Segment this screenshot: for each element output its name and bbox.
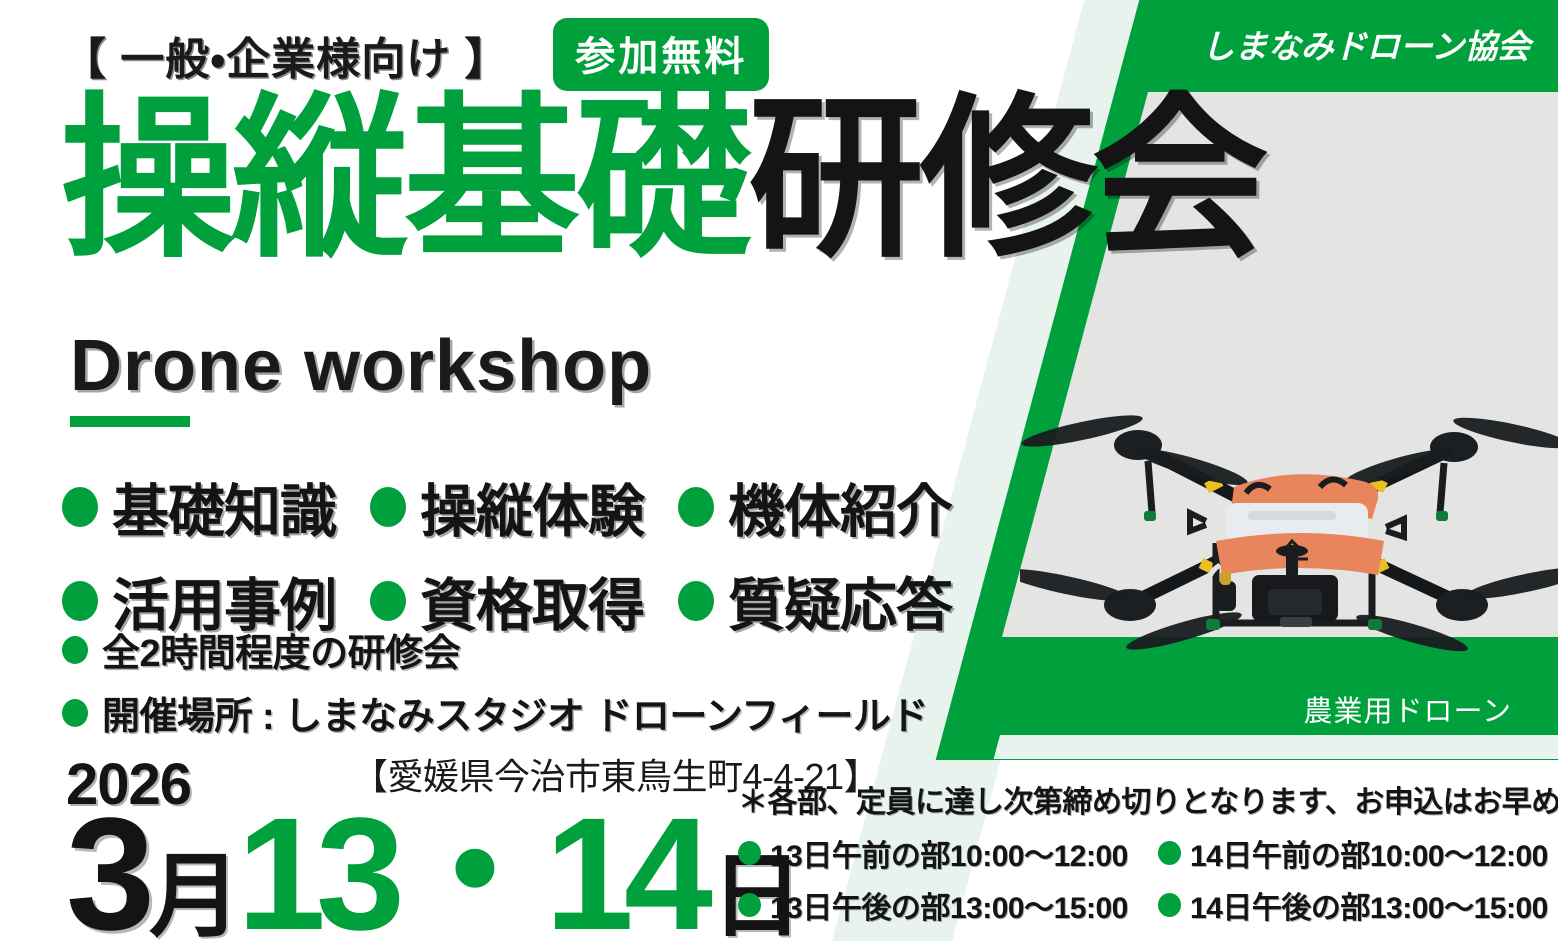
bullet-dot-icon — [678, 581, 714, 621]
bullet-dot-icon — [738, 841, 761, 865]
capacity-note: ＊各部、定員に達し次第締め切りとなります、お申込はお早めに! — [738, 777, 1548, 821]
session-item: 13日午前の部10:00〜12:00 — [738, 831, 1158, 875]
bullet-dot-icon — [1158, 893, 1181, 917]
bullet-dot-icon — [62, 636, 88, 664]
feature-item: 機体紹介 — [678, 466, 952, 548]
bullet-dot-icon — [1158, 841, 1181, 865]
feature-label: 基礎知識 — [112, 466, 336, 548]
green-band-shadow — [994, 735, 1558, 759]
session-item: 14日午前の部10:00〜12:00 — [1158, 831, 1558, 875]
bullet-dot-icon — [370, 487, 406, 527]
subtitle-block: Drone workshop — [70, 330, 652, 427]
flyer-canvas: 【 一般・企業様向け 】 参加無料 しまなみドローン協会 操縦基礎研修会 Dro… — [0, 0, 1558, 941]
venue-line: 開催場所 : しまなみスタジオ ドローンフィールド — [62, 685, 928, 740]
bullet-dot-icon — [62, 581, 98, 621]
event-day-line: 3 月 13・14 日 — [66, 808, 799, 939]
duration-text: 全2時間程度の研修会 — [102, 622, 460, 677]
free-admission-badge: 参加無料 — [553, 18, 769, 91]
duration-line: 全2時間程度の研修会 — [62, 622, 928, 677]
subtitle-underline — [70, 416, 190, 427]
title-green-part: 操縦基礎 — [60, 82, 748, 278]
session-block: ＊各部、定員に達し次第締め切りとなります、お申込はお早めに! 13日午前の部10… — [738, 777, 1548, 927]
session-label: 14日午後の部13:00〜15:00 — [1190, 883, 1548, 927]
subtitle: Drone workshop — [70, 330, 652, 402]
feature-row-1: 基礎知識 操縦体験 機体紹介 — [62, 466, 968, 548]
session-label: 13日午後の部13:00〜15:00 — [770, 883, 1128, 927]
session-label: 14日午前の部10:00〜12:00 — [1190, 831, 1548, 875]
event-days: 13・14 — [237, 808, 703, 939]
bullet-dot-icon — [678, 487, 714, 527]
bullet-dot-icon — [62, 487, 98, 527]
session-grid: 13日午前の部10:00〜12:00 14日午前の部10:00〜12:00 13… — [738, 831, 1548, 927]
bullet-dot-icon — [738, 893, 761, 917]
association-logo: しまなみドローン協会 — [1202, 20, 1530, 68]
feature-item: 操縦体験 — [370, 466, 644, 548]
title-black-part: 研修会 — [748, 82, 1264, 278]
drone-photo-caption: 農業用ドローン — [1303, 688, 1512, 730]
session-item: 14日午後の部13:00〜15:00 — [1158, 883, 1558, 927]
bullet-dot-icon — [370, 581, 406, 621]
event-month-number: 3 — [66, 808, 147, 939]
venue-text: 開催場所 : しまなみスタジオ ドローンフィールド — [102, 685, 928, 740]
event-month-kanji: 月 — [149, 860, 237, 935]
audience-tag: 【 一般・企業様向け 】 — [62, 23, 509, 87]
feature-label: 操縦体験 — [420, 466, 644, 548]
event-date-block: 2026 3 月 13・14 日 — [66, 757, 799, 939]
bullet-dot-icon — [62, 699, 88, 727]
session-item: 13日午後の部13:00〜15:00 — [738, 883, 1158, 927]
feature-item: 基礎知識 — [62, 466, 336, 548]
session-label: 13日午前の部10:00〜12:00 — [770, 831, 1128, 875]
feature-label: 機体紹介 — [728, 466, 952, 548]
agricultural-drone-photo — [1020, 375, 1558, 675]
page-title: 操縦基礎研修会 — [60, 92, 1264, 268]
header-row: 【 一般・企業様向け 】 参加無料 — [62, 18, 769, 91]
